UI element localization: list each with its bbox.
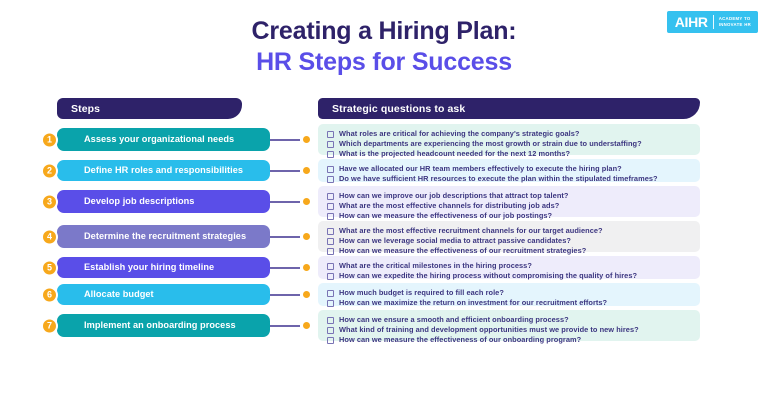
checkbox-icon[interactable]	[327, 317, 334, 324]
question-item[interactable]: What kind of training and development op…	[327, 326, 692, 335]
step-label: Assess your organizational needs	[57, 134, 234, 144]
checkbox-icon[interactable]	[327, 203, 334, 210]
question-panel-1: What roles are critical for achieving th…	[318, 124, 700, 155]
step-pill-1[interactable]: 1Assess your organizational needs	[57, 128, 270, 151]
step-pill-5[interactable]: 5Establish your hiring timeline	[57, 257, 270, 278]
question-text: What is the projected headcount needed f…	[339, 150, 570, 159]
connector-line	[270, 267, 300, 269]
question-text: How can we maximize the return on invest…	[339, 299, 607, 308]
step-pill-2[interactable]: 2Define HR roles and responsibilities	[57, 160, 270, 181]
connector-line	[270, 294, 300, 296]
question-item[interactable]: How can we maximize the return on invest…	[327, 299, 692, 308]
question-text: How can we measure the effectiveness of …	[339, 212, 552, 221]
question-text: How can we measure the effectiveness of …	[339, 336, 581, 345]
connector-dot	[303, 291, 310, 298]
question-text: What are the critical milestones in the …	[339, 262, 532, 271]
question-item[interactable]: How can we measure the effectiveness of …	[327, 212, 692, 221]
question-item[interactable]: What are the most effective channels for…	[327, 202, 692, 211]
question-item[interactable]: How much budget is required to fill each…	[327, 289, 692, 298]
step-number-badge: 4	[41, 228, 58, 245]
question-item[interactable]: Do we have sufficient HR resources to ex…	[327, 175, 692, 184]
checkbox-icon[interactable]	[327, 290, 334, 297]
checkbox-icon[interactable]	[327, 273, 334, 280]
checkbox-icon[interactable]	[327, 213, 334, 220]
checkbox-icon[interactable]	[327, 300, 334, 307]
question-item[interactable]: Have we allocated our HR team members ef…	[327, 165, 692, 174]
question-panel-5: What are the critical milestones in the …	[318, 256, 700, 279]
step-number-badge: 5	[41, 259, 58, 276]
step-row: 5Establish your hiring timelineWhat are …	[0, 256, 768, 279]
question-text: How can we expedite the hiring process w…	[339, 272, 637, 281]
step-row: 1Assess your organizational needsWhat ro…	[0, 124, 768, 155]
checkbox-icon[interactable]	[327, 337, 334, 344]
column-header-steps-label: Steps	[57, 103, 100, 115]
question-text: What kind of training and development op…	[339, 326, 639, 335]
question-text: How much budget is required to fill each…	[339, 289, 504, 298]
question-text: What roles are critical for achieving th…	[339, 130, 580, 139]
step-row: 4Determine the recruitment strategiesWha…	[0, 221, 768, 252]
question-item[interactable]: What is the projected headcount needed f…	[327, 150, 692, 159]
checkbox-icon[interactable]	[327, 248, 334, 255]
question-item[interactable]: How can we expedite the hiring process w…	[327, 272, 692, 281]
column-header-questions: Strategic questions to ask	[318, 98, 700, 119]
question-item[interactable]: What are the most effective recruitment …	[327, 227, 692, 236]
step-row: 3Develop job descriptionsHow can we impr…	[0, 186, 768, 217]
question-panel-4: What are the most effective recruitment …	[318, 221, 700, 252]
connector-dot	[303, 198, 310, 205]
question-panel-3: How can we improve our job descriptions …	[318, 186, 700, 217]
step-pill-3[interactable]: 3Develop job descriptions	[57, 190, 270, 213]
infographic-page: AIHR ACADEMY TO INNOVATE HR Creating a H…	[0, 0, 768, 402]
checkbox-icon[interactable]	[327, 151, 334, 158]
checkbox-icon[interactable]	[327, 193, 334, 200]
column-header-questions-label: Strategic questions to ask	[318, 103, 465, 115]
connector-line	[270, 201, 300, 203]
step-pill-6[interactable]: 6Allocate budget	[57, 284, 270, 305]
column-header-steps: Steps	[57, 98, 242, 119]
connector-line	[270, 170, 300, 172]
question-text: How can we leverage social media to attr…	[339, 237, 571, 246]
question-item[interactable]: What are the critical milestones in the …	[327, 262, 692, 271]
checkbox-icon[interactable]	[327, 327, 334, 334]
checkbox-icon[interactable]	[327, 141, 334, 148]
step-label: Allocate budget	[57, 289, 154, 299]
connector-line	[270, 236, 300, 238]
step-label: Determine the recruitment strategies	[57, 231, 246, 241]
question-item[interactable]: How can we ensure a smooth and efficient…	[327, 316, 692, 325]
question-item[interactable]: What roles are critical for achieving th…	[327, 130, 692, 139]
question-panel-7: How can we ensure a smooth and efficient…	[318, 310, 700, 341]
step-row: 6Allocate budgetHow much budget is requi…	[0, 283, 768, 306]
step-pill-4[interactable]: 4Determine the recruitment strategies	[57, 225, 270, 248]
question-text: Have we allocated our HR team members ef…	[339, 165, 622, 174]
step-row: 2Define HR roles and responsibilitiesHav…	[0, 159, 768, 182]
step-number-badge: 6	[41, 286, 58, 303]
connector-line	[270, 325, 300, 327]
checkbox-icon[interactable]	[327, 131, 334, 138]
checkbox-icon[interactable]	[327, 166, 334, 173]
question-item[interactable]: How can we leverage social media to attr…	[327, 237, 692, 246]
checkbox-icon[interactable]	[327, 263, 334, 270]
connector-dot	[303, 136, 310, 143]
question-text: Do we have sufficient HR resources to ex…	[339, 175, 658, 184]
question-item[interactable]: How can we improve our job descriptions …	[327, 192, 692, 201]
page-title-line2: HR Steps for Success	[0, 47, 768, 78]
checkbox-icon[interactable]	[327, 238, 334, 245]
step-pill-7[interactable]: 7Implement an onboarding process	[57, 314, 270, 337]
question-text: How can we measure the effectiveness of …	[339, 247, 586, 256]
connector-dot	[303, 264, 310, 271]
connector-line	[270, 139, 300, 141]
question-text: What are the most effective recruitment …	[339, 227, 603, 236]
checkbox-icon[interactable]	[327, 176, 334, 183]
question-item[interactable]: How can we measure the effectiveness of …	[327, 336, 692, 345]
step-row: 7Implement an onboarding processHow can …	[0, 310, 768, 341]
question-item[interactable]: Which departments are experiencing the m…	[327, 140, 692, 149]
step-number-badge: 2	[41, 162, 58, 179]
page-title-line1: Creating a Hiring Plan:	[0, 16, 768, 47]
connector-dot	[303, 322, 310, 329]
connector-dot	[303, 167, 310, 174]
step-label: Establish your hiring timeline	[57, 262, 214, 272]
step-number-badge: 3	[41, 193, 58, 210]
checkbox-icon[interactable]	[327, 228, 334, 235]
question-text: What are the most effective channels for…	[339, 202, 559, 211]
question-panel-2: Have we allocated our HR team members ef…	[318, 159, 700, 182]
step-number-badge: 1	[41, 131, 58, 148]
question-text: How can we ensure a smooth and efficient…	[339, 316, 569, 325]
page-title: Creating a Hiring Plan: HR Steps for Suc…	[0, 16, 768, 77]
question-text: Which departments are experiencing the m…	[339, 140, 642, 149]
step-label: Implement an onboarding process	[57, 320, 236, 330]
question-panel-6: How much budget is required to fill each…	[318, 283, 700, 306]
connector-dot	[303, 233, 310, 240]
step-label: Define HR roles and responsibilities	[57, 165, 243, 175]
question-text: How can we improve our job descriptions …	[339, 192, 568, 201]
step-number-badge: 7	[41, 317, 58, 334]
step-label: Develop job descriptions	[57, 196, 194, 206]
question-item[interactable]: How can we measure the effectiveness of …	[327, 247, 692, 256]
